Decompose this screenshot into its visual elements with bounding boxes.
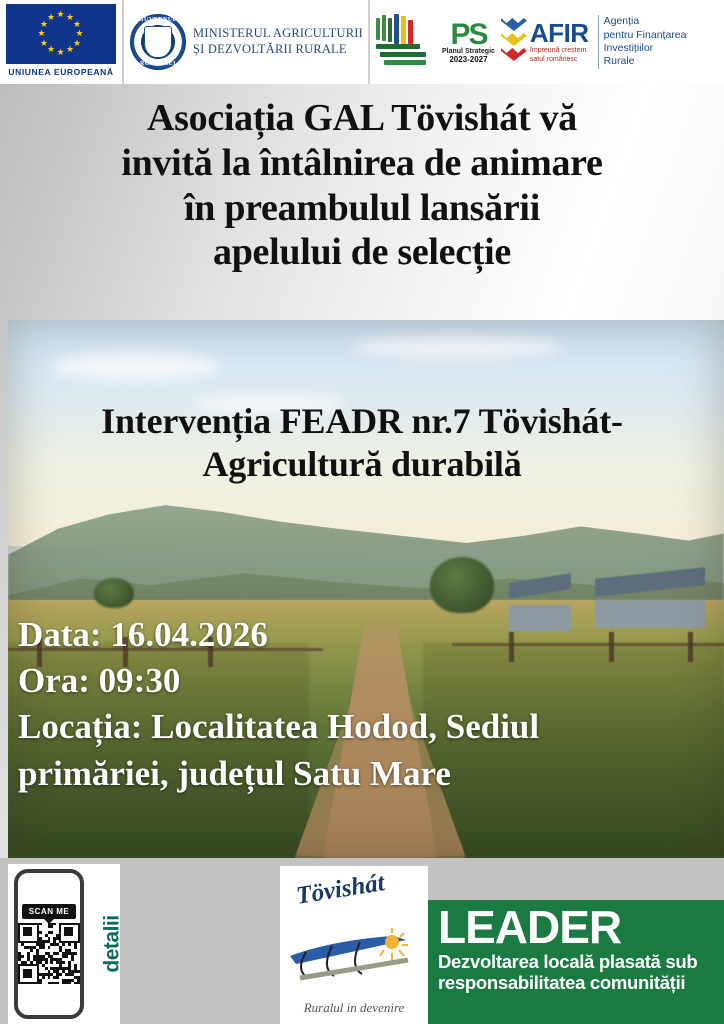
qr-module [42,946,45,949]
agency-line-1: Agenția [604,15,687,28]
ps-bar-icon [376,18,380,40]
qr-module [48,976,51,979]
afir-slogan-line-1: împreună creștem [530,47,589,55]
ps-bar-icon [394,14,399,44]
details-label-text: detalii [101,915,125,972]
tovishat-emblem-icon [286,912,422,990]
afir-slogan-line-2: satul românesc [530,56,589,64]
leader-sub-line-2: responsabilitatea comunității [438,973,716,994]
eu-logo: ★★★★★★★★★★★★ UNIUNEA EUROPEANĂ [0,0,122,84]
seal-eagle-icon [144,26,172,58]
poster-root: ★★★★★★★★★★★★ UNIUNEA EUROPEANĂ GUVERNUL … [0,0,724,1024]
seal-top-text: GUVERNUL [131,17,185,23]
strategic-plan-bars-icon [374,14,436,70]
eu-star-icon: ★ [47,13,56,23]
eu-caption: UNIUNEA EUROPEANĂ [8,67,113,77]
title-line-3: în preambulul lansării [0,186,724,231]
agency-line-4: Rurale [604,55,687,68]
poster-title: Asociația GAL Tövishát vă invită la întâ… [0,96,724,275]
qr-finder-icon [59,923,80,944]
leader-sub-line-1: Dezvoltarea locală plasată sub [438,952,716,973]
wheat-ear-icon [501,33,527,46]
scan-me-badge: SCAN ME [22,904,76,919]
eu-star-icon: ★ [57,10,66,20]
leader-title: LEADER [438,904,716,950]
qr-module [59,973,62,976]
event-date: Data: 16.04.2026 [18,612,708,658]
qr-module [71,958,74,961]
wheat-ear-icon [501,48,527,61]
qr-module [77,982,80,985]
afir-ps-logo-group: PS Planul Strategic 2023-2027 AFIR împre… [368,0,724,84]
qr-module [45,961,48,964]
qr-module [56,952,59,955]
ministry-line-2: ȘI DEZVOLTĂRII RURALE [193,42,363,58]
ps-bar-icon [388,18,392,42]
qr-finder-icon [18,964,39,985]
funding-logo-strip: ★★★★★★★★★★★★ UNIUNEA EUROPEANĂ GUVERNUL … [0,0,724,84]
ps-bar-icon [376,44,420,49]
event-time: Ora: 09:30 [18,658,708,704]
afir-wheat-icon [501,18,527,66]
event-location-line-2: primăriei, județul Satu Mare [18,751,708,797]
ps-bar-icon [382,15,386,41]
agency-line-3: Investițiilor [604,42,687,55]
qr-finder-core [23,969,32,978]
ps-bar-icon [384,60,426,65]
ps-monogram: PS [450,21,486,48]
qr-module [62,961,65,964]
phone-frame-icon: SCAN ME [14,869,84,1019]
eu-star-icon: ★ [40,39,49,49]
strategic-plan-logo: PS Planul Strategic 2023-2027 [442,21,495,64]
qr-module [42,976,45,979]
afir-slogan: împreună creștem satul românesc [530,47,589,63]
eu-star-icon: ★ [38,29,47,39]
qr-code-icon[interactable] [18,923,80,985]
qr-module [62,943,65,946]
qr-module [50,925,53,928]
afir-logo: AFIR împreună creștem satul românesc [501,18,589,66]
qr-finder-core [64,927,73,936]
title-line-1: Asociația GAL Tövishát vă [0,96,724,141]
agency-line-2: pentru Finanțarea [604,29,687,42]
qr-module [30,949,33,952]
ps-bar-icon [401,16,406,44]
ps-subtitle: Planul Strategic [442,48,495,55]
title-line-2: invită la întâlnirea de animare [0,141,724,186]
afir-name: AFIR [530,20,589,46]
afir-agency-name: Agenția pentru Finanțarea Investițiilor … [598,15,687,69]
qr-module [56,976,59,979]
qr-module [56,982,59,985]
qr-module [74,952,77,955]
ministry-name: MINISTERUL AGRICULTURII ȘI DEZVOLTĂRII R… [193,26,363,57]
qr-module [50,931,53,934]
seal-bottom-text: ROMÂNIEI [131,61,185,67]
qr-module [77,970,80,973]
ps-years: 2023-2027 [449,55,487,64]
title-line-4: apelului de selecție [0,230,724,275]
qr-module [48,946,51,949]
eu-star-icon: ★ [66,45,75,55]
qr-module [74,946,77,949]
qr-module [39,982,42,985]
qr-module [68,943,71,946]
qr-module [21,955,24,958]
ps-bar-icon [408,20,413,44]
ps-bar-icon [380,52,426,57]
subtitle-line-1: Intervenția FEADR nr.7 Tövishát- [0,400,724,443]
qr-module [68,982,71,985]
qr-module [53,923,56,926]
qr-finder-icon [18,923,39,944]
subtitle-line-2: Agricultură durabilă [0,443,724,486]
wheat-ear-icon [501,18,527,31]
government-seal-icon: GUVERNUL ROMÂNIEI [130,14,186,70]
qr-module [39,931,42,934]
tovishat-logo: Tövishát Ruralul in devenire [280,866,428,1024]
eu-star-icon: ★ [57,48,66,58]
leader-logo: LEADER Dezvoltarea locală plasată sub re… [428,900,724,1024]
qr-module [39,923,42,926]
eu-flag-icon: ★★★★★★★★★★★★ [6,4,116,64]
qr-code-card[interactable]: SCAN ME detalii [8,864,120,1024]
qr-finder-core [23,927,32,936]
qr-module [65,955,68,958]
leader-subtitle: Dezvoltarea locală plasată sub responsab… [438,952,716,993]
tovishat-tagline: Ruralul in devenire [292,1000,416,1016]
intervention-subtitle: Intervenția FEADR nr.7 Tövishát- Agricul… [0,400,724,486]
afir-wordmark: AFIR împreună creștem satul românesc [530,20,589,63]
tovishat-name: Tövishát [294,869,386,911]
qr-module [50,961,53,964]
ministry-logo: GUVERNUL ROMÂNIEI MINISTERUL AGRICULTURI… [122,0,368,84]
ministry-line-1: MINISTERUL AGRICULTURII [193,26,363,42]
event-details: Data: 16.04.2026 Ora: 09:30 Locația: Loc… [18,612,708,797]
details-side-label: detalii [84,864,141,1024]
event-location-line-1: Locația: Localitatea Hodod, Sediul [18,704,708,750]
